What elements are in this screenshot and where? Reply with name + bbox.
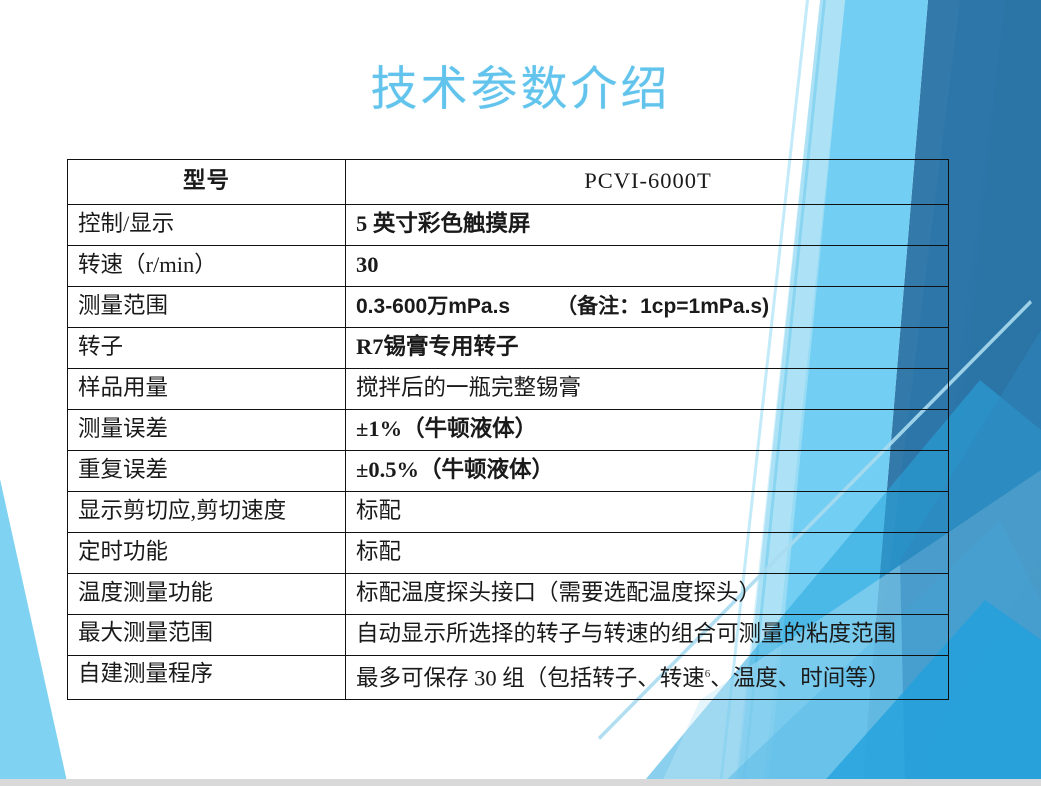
row-label-rotor: 转子 <box>68 328 346 369</box>
table-row: 控制/显示 5 英寸彩色触摸屏 <box>68 205 949 246</box>
custom-program-text-part2: 、温度、时间等） <box>710 666 890 691</box>
custom-program-text-part1: 最多可保存 30 组（包括转子、转速 <box>356 666 705 691</box>
page-title: 技术参数介绍 <box>0 62 1041 118</box>
row-label-control-display: 控制/显示 <box>68 205 346 246</box>
table-row: 转速（r/min） 30 <box>68 246 949 287</box>
row-value-shear-display: 标配 <box>346 492 949 533</box>
row-label-rotation-speed: 转速（r/min） <box>68 246 346 287</box>
technical-parameters-table: 型号 PCVI-6000T 控制/显示 5 英寸彩色触摸屏 转速（r/min） … <box>67 159 949 700</box>
row-label-measuring-range: 测量范围 <box>68 287 346 328</box>
row-value-repeat-error: ±0.5%（牛顿液体） <box>346 451 949 492</box>
table-row: 测量范围 0.3-600万mPa.s（备注：1cp=1mPa.s) <box>68 287 949 328</box>
row-label-temperature-function: 温度测量功能 <box>68 574 346 615</box>
measuring-range-note: （备注：1cp=1mPa.s) <box>556 295 769 318</box>
table-row: 自建测量程序 最多可保存 30 组（包括转子、转速6、温度、时间等） <box>68 656 949 700</box>
row-label-repeat-error: 重复误差 <box>68 451 346 492</box>
row-value-rotor: R7锡膏专用转子 <box>346 328 949 369</box>
bottom-strip <box>0 779 1041 786</box>
table-row: 定时功能 标配 <box>68 533 949 574</box>
table-header-label: 型号 <box>68 160 346 205</box>
spec-table-container: 型号 PCVI-6000T 控制/显示 5 英寸彩色触摸屏 转速（r/min） … <box>67 159 948 700</box>
row-value-max-measuring-range: 自动显示所选择的转子与转速的组合可测量的粘度范围 <box>346 615 949 656</box>
row-label-timer-function: 定时功能 <box>68 533 346 574</box>
row-value-rotation-speed: 30 <box>346 246 949 287</box>
row-value-measuring-range: 0.3-600万mPa.s（备注：1cp=1mPa.s) <box>346 287 949 328</box>
table-row: 转子 R7锡膏专用转子 <box>68 328 949 369</box>
bg-shape-bottom-left-wedge <box>0 470 68 786</box>
table-row: 最大测量范围 自动显示所选择的转子与转速的组合可测量的粘度范围 <box>68 615 949 656</box>
row-value-control-display: 5 英寸彩色触摸屏 <box>346 205 949 246</box>
table-row: 重复误差 ±0.5%（牛顿液体） <box>68 451 949 492</box>
row-value-measurement-error: ±1%（牛顿液体） <box>346 410 949 451</box>
row-label-measurement-error: 测量误差 <box>68 410 346 451</box>
row-value-temperature-function: 标配温度探头接口（需要选配温度探头） <box>346 574 949 615</box>
table-header-row: 型号 PCVI-6000T <box>68 160 949 205</box>
table-header-value: PCVI-6000T <box>346 160 949 205</box>
row-value-sample-volume: 搅拌后的一瓶完整锡膏 <box>346 369 949 410</box>
measuring-range-value: 0.3-600万mPa.s <box>356 295 510 318</box>
table-row: 温度测量功能 标配温度探头接口（需要选配温度探头） <box>68 574 949 615</box>
table-row: 样品用量 搅拌后的一瓶完整锡膏 <box>68 369 949 410</box>
table-row: 显示剪切应,剪切速度 标配 <box>68 492 949 533</box>
row-label-custom-program: 自建测量程序 <box>68 656 346 700</box>
row-value-custom-program: 最多可保存 30 组（包括转子、转速6、温度、时间等） <box>346 656 949 700</box>
row-value-timer-function: 标配 <box>346 533 949 574</box>
table-row: 测量误差 ±1%（牛顿液体） <box>68 410 949 451</box>
row-label-sample-volume: 样品用量 <box>68 369 346 410</box>
row-label-shear-display: 显示剪切应,剪切速度 <box>68 492 346 533</box>
row-label-max-measuring-range: 最大测量范围 <box>68 615 346 656</box>
